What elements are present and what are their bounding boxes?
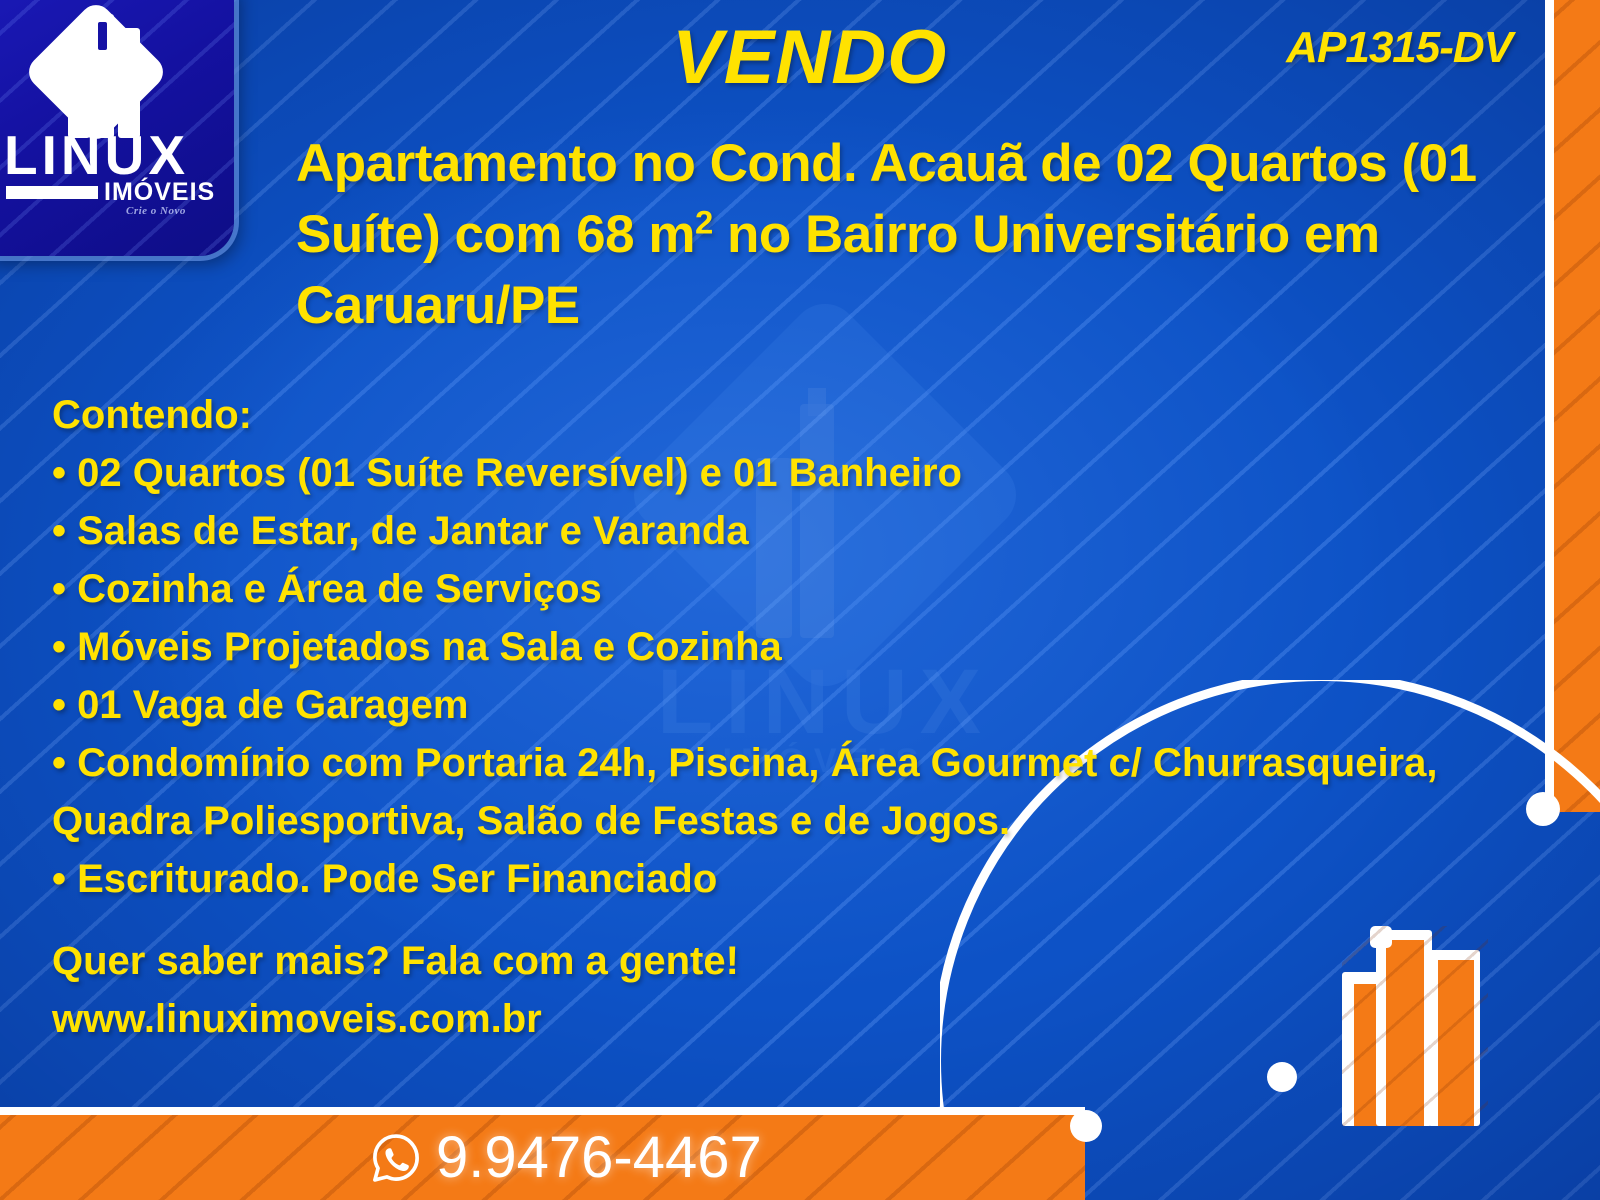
bottom-bar-divider — [0, 1107, 1085, 1115]
title-superscript: 2 — [695, 203, 713, 240]
list-item: Escriturado. Pode Ser Financiado — [52, 850, 1522, 908]
website-link[interactable]: www.linuximoveis.com.br — [52, 990, 1152, 1048]
phone-number: 9.9476-4467 — [436, 1124, 762, 1192]
whatsapp-icon — [370, 1132, 422, 1184]
arc-end-dot — [1267, 1062, 1297, 1092]
call-to-action: Quer saber mais? Fala com a gente! www.l… — [52, 932, 1152, 1048]
right-strip-texture — [1554, 0, 1600, 812]
right-strip-divider — [1545, 0, 1554, 812]
footer-bar-end-dot — [1070, 1110, 1102, 1142]
list-item: 01 Vaga de Garagem — [52, 676, 1522, 734]
features-block: Contendo: 02 Quartos (01 Suíte Reversíve… — [52, 386, 1522, 908]
logo-wordmark: LINUX — [4, 128, 204, 183]
logo-towers-shape — [68, 8, 142, 140]
banner-label: VENDO — [672, 14, 947, 101]
title-line-2-post: no Bairro Universitário — [713, 205, 1290, 264]
list-item: Salas de Estar, de Jantar e Varanda — [52, 502, 1522, 560]
cta-question: Quer saber mais? Fala com a gente! — [52, 932, 1152, 990]
right-strip-end-dot — [1526, 792, 1560, 826]
company-logo[interactable]: LINUX IMÓVEIS Crie o Novo — [0, 0, 234, 256]
logo-underline-bar — [6, 186, 98, 199]
corner-buildings-icon — [1342, 926, 1488, 1126]
reference-code: AP1315-DV — [1286, 23, 1512, 73]
features-list: 02 Quartos (01 Suíte Reversível) e 01 Ba… — [52, 444, 1522, 908]
list-item: 02 Quartos (01 Suíte Reversível) e 01 Ba… — [52, 444, 1522, 502]
title-line-1: Apartamento no Cond. Acauã de 02 Quartos — [296, 134, 1387, 193]
real-estate-flyer: LINUX IMÓVEIS LINU — [0, 0, 1600, 1200]
whatsapp-contact[interactable]: 9.9476-4467 — [370, 1124, 762, 1192]
right-orange-strip — [1554, 0, 1600, 812]
logo-tagline: Crie o Novo — [126, 205, 186, 217]
list-item: Condomínio com Portaria 24h, Piscina, Ár… — [52, 734, 1522, 850]
features-lead: Contendo: — [52, 386, 1522, 444]
logo-diamond-towers-icon — [34, 10, 160, 136]
list-item: Cozinha e Área de Serviços — [52, 560, 1522, 618]
logo-subwordmark: IMÓVEIS — [104, 178, 215, 207]
page-title: Apartamento no Cond. Acauã de 02 Quartos… — [296, 128, 1486, 341]
list-item: Móveis Projetados na Sala e Cozinha — [52, 618, 1522, 676]
